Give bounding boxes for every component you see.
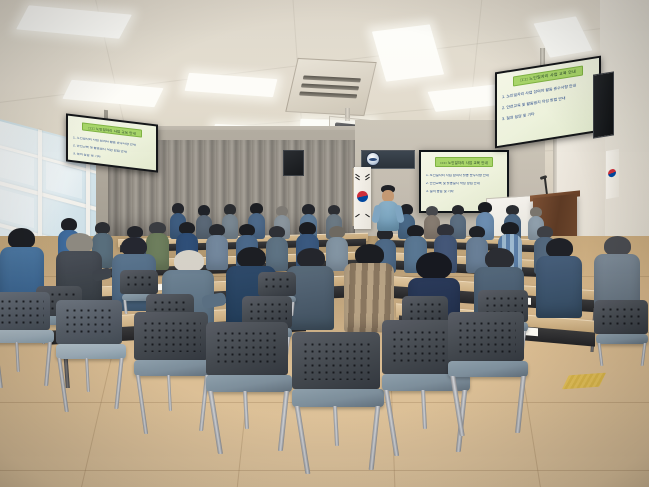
wall-speaker	[593, 71, 614, 138]
air-conditioner-vent	[285, 58, 376, 116]
slide-bullet: 1. 노인일자리 사업 참여자 활동 준수사항 안내	[426, 174, 502, 177]
slide-bullet: 3. 질의 응답 및 기타	[426, 190, 502, 193]
chair	[448, 312, 528, 436]
slide-title-text: □□□ 노인일자리 사업 교육 안내	[440, 160, 488, 165]
slide-title-text: □□□ 노인일자리 사업 교육 안내	[520, 69, 576, 84]
korean-flag	[606, 149, 619, 199]
slide-title-text: □□□ 노인일자리 사업 교육 안내	[88, 125, 136, 136]
attendee	[344, 244, 394, 332]
chair	[206, 322, 292, 454]
ceiling-light	[16, 5, 132, 38]
organization-emblem-icon	[366, 152, 380, 166]
presenter	[377, 185, 399, 231]
chair	[134, 312, 212, 434]
attendee	[536, 238, 582, 318]
seminar-room-photo: □□□ 노인일자리 사업 교육 안내 1. 노인일자리 사업 참여자 활동 준수…	[0, 0, 649, 487]
chair	[0, 292, 54, 388]
wall-speaker	[283, 150, 304, 176]
chair	[292, 332, 384, 474]
ceiling-light	[185, 73, 278, 97]
ceiling-light	[372, 24, 444, 81]
slide-title-banner: □□□ 노인일자리 사업 교육 안내	[435, 157, 493, 167]
slide-title-banner: □□□ 노인일자리 사업 교육 안내	[82, 122, 142, 137]
korean-flag	[354, 167, 371, 229]
slide-content: □□□ 노인일자리 사업 교육 안내 1. 노인일자리 사업 참여자 활동 준수…	[68, 116, 156, 171]
chair	[56, 300, 126, 412]
slide-bullet: 2. 안전교육 및 활동일지 작성 방법 안내	[426, 182, 502, 185]
chair	[594, 300, 648, 366]
slide-content: □□□ 노인일자리 사업 교육 안내 1. 노인일자리 사업 참여자 활동 준수…	[497, 58, 599, 146]
